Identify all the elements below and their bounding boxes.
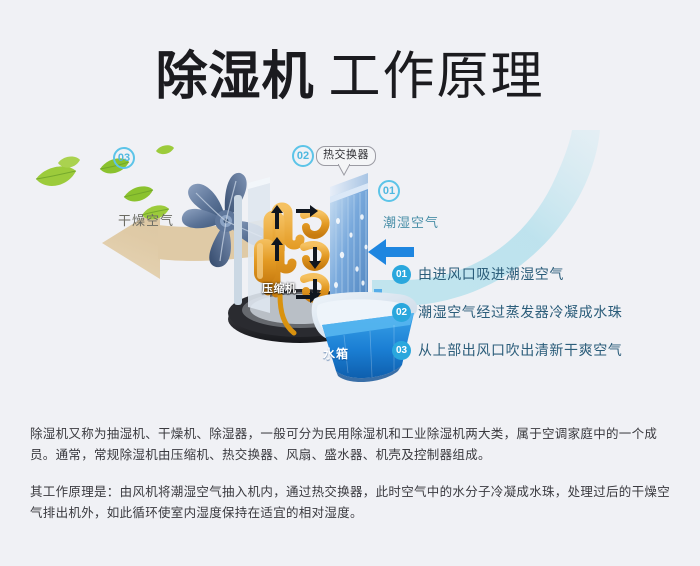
list-item: 01 由进风口吸进潮湿空气: [392, 255, 692, 293]
list-item: 03 从上部出风口吹出清新干爽空气: [392, 331, 692, 369]
page-title-light: 工作原理: [329, 48, 545, 106]
body-copy: 除湿机又称为抽湿机、干燥机、除湿器，一般可分为民用除湿机和工业除湿机两大类，属于…: [30, 424, 675, 524]
page-title: 除湿机工作原理: [0, 34, 700, 109]
illustration-badge-01: 01: [378, 180, 400, 202]
label-compressor: 压缩机: [262, 280, 297, 296]
callout-tail-icon: [338, 164, 350, 176]
step-badge-02: 02: [392, 303, 411, 322]
label-water-tank: 水箱: [323, 345, 349, 362]
label-humid-air: 潮湿空气: [383, 212, 439, 231]
paragraph-definition: 除湿机又称为抽湿机、干燥机、除湿器，一般可分为民用除湿机和工业除湿机两大类，属于…: [30, 424, 675, 466]
step-text-01: 由进风口吸进潮湿空气: [418, 264, 564, 284]
callout-heat-exchanger: 热交换器: [316, 146, 376, 166]
list-item: 02 潮湿空气经过蒸发器冷凝成水珠: [392, 293, 692, 331]
step-badge-03: 03: [392, 341, 411, 360]
illustration-badge-02: 02: [292, 145, 314, 167]
step-badge-01: 01: [392, 265, 411, 284]
illustration-badge-03: 03: [113, 147, 135, 169]
step-text-02: 潮湿空气经过蒸发器冷凝成水珠: [418, 302, 622, 322]
step-text-03: 从上部出风口吹出清新干爽空气: [418, 340, 622, 360]
steps-list: 01 由进风口吸进潮湿空气 02 潮湿空气经过蒸发器冷凝成水珠 03 从上部出风…: [392, 255, 692, 369]
page-title-bold: 除湿机: [155, 48, 314, 106]
paragraph-principle: 其工作原理是：由风机将潮湿空气抽入机内，通过热交换器，此时空气中的水分子冷凝成水…: [30, 482, 675, 524]
label-dry-air: 干燥空气: [118, 210, 174, 229]
page-root: 除湿机工作原理: [0, 0, 700, 566]
